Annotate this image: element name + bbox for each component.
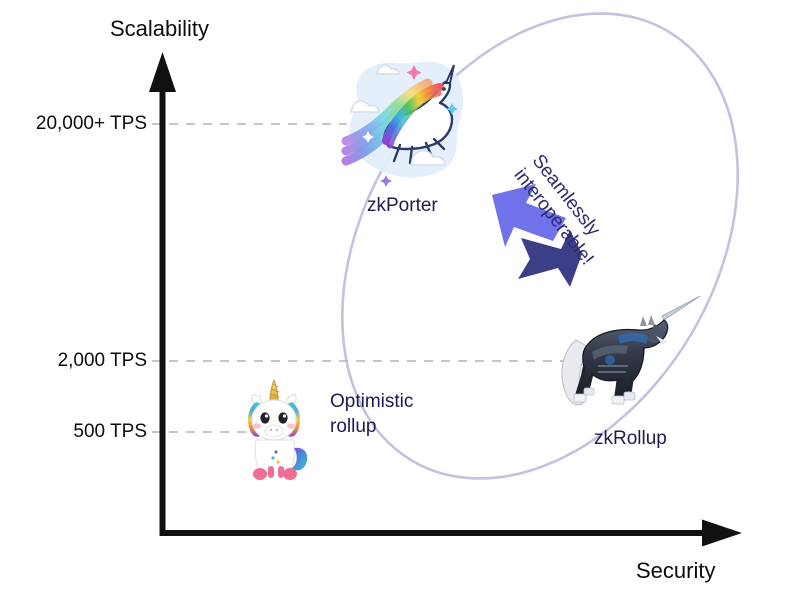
node-label-zkrollup: zkRollup bbox=[594, 428, 667, 450]
x-axis-line bbox=[160, 530, 720, 536]
rainbow-unicorn-icon bbox=[346, 62, 463, 187]
y-axis-title: Scalability bbox=[110, 16, 209, 42]
diagram-graphics bbox=[0, 0, 795, 600]
y-axis-line bbox=[160, 66, 166, 536]
armored-unicorn-icon bbox=[562, 296, 700, 405]
y-axis-arrowhead bbox=[149, 52, 176, 92]
baby-unicorn-icon bbox=[248, 380, 307, 480]
x-axis-arrowhead bbox=[702, 520, 742, 547]
y-tick-label-500: 500 TPS bbox=[73, 421, 147, 443]
diagram-canvas: Scalability Security 20,000+ TPS 2,000 T… bbox=[0, 0, 795, 600]
node-label-zkporter: zkPorter bbox=[367, 195, 438, 217]
x-axis-title: Security bbox=[636, 558, 715, 584]
y-tick-label-2000: 2,000 TPS bbox=[58, 350, 147, 372]
node-label-optimistic-rollup: Optimistic rollup bbox=[330, 389, 413, 439]
y-tick-label-20000: 20,000+ TPS bbox=[36, 113, 147, 135]
